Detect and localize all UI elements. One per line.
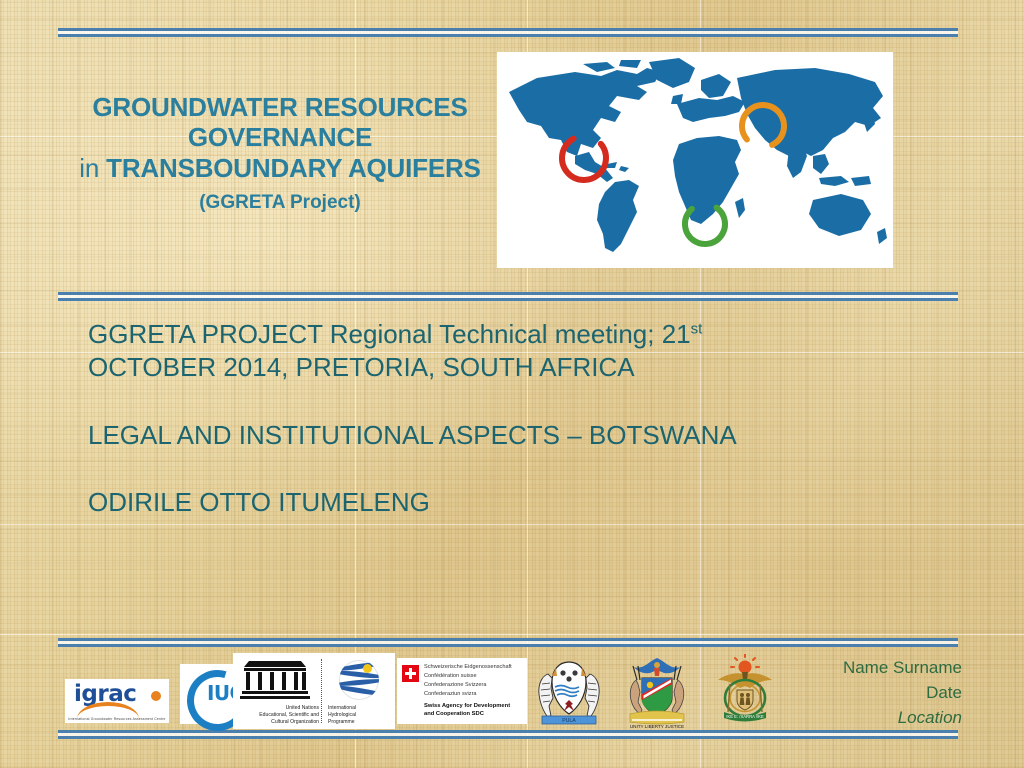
body-line-2: OCTOBER 2014, PRETORIA, SOUTH AFRICA [88, 352, 635, 382]
igrac-logo: igrac International Groundwater Resource… [65, 679, 169, 723]
coat-of-arms-namibia: UNITY LIBERTY JUSTICE [618, 654, 696, 730]
swiss-name-fr: Confédération suisse [424, 672, 525, 681]
body-paragraph-topic: LEGAL AND INSTITUTIONAL ASPECTS – BOTSWA… [88, 419, 948, 452]
title-line-3: in TRANSBOUNDARY AQUIFERS [60, 153, 500, 183]
swiss-confederation-names: Schweizerische Eidgenossenschaft Confédé… [424, 663, 525, 699]
body-paragraph-author: ODIRILE OTTO ITUMELENG [88, 486, 948, 519]
swiss-name-de: Schweizerische Eidgenossenschaft [424, 663, 525, 672]
igrac-tagline: International Groundwater Resources Asse… [68, 717, 166, 721]
presenter-date: Date [722, 681, 962, 706]
ihp-logo: International Hydrological Programme [325, 653, 393, 729]
swiss-sdc-logo: Schweizerische Eidgenossenschaft Confédé… [397, 658, 527, 724]
guide-line-horizontal [0, 524, 1024, 525]
body-paragraph-meeting: GGRETA PROJECT Regional Technical meetin… [88, 318, 948, 385]
body-line-3: LEGAL AND INSTITUTIONAL ASPECTS – BOTSWA… [88, 420, 737, 450]
ihp-globe-icon [339, 660, 379, 700]
igrac-dot-icon [151, 691, 161, 701]
presentation-slide: GROUNDWATER RESOURCES GOVERNANCE in TRAN… [0, 0, 1024, 768]
unesco-caption-line-2: Educational, Scientific and [235, 712, 319, 719]
unesco-ihp-logo: United Nations Educational, Scientific a… [233, 653, 395, 729]
body-line-1-superscript: st [691, 320, 703, 337]
body-line-4: ODIRILE OTTO ITUMELENG [88, 487, 430, 517]
partner-logo-strip: igrac International Groundwater Resource… [60, 652, 820, 730]
logo-divider [321, 659, 322, 723]
swiss-agency-name: Swiss Agency for Development and Coopera… [424, 702, 525, 718]
ihp-caption-line-1: International [328, 705, 356, 712]
unesco-caption-line-3: Cultural Organization [235, 719, 319, 726]
svg-text:PULA: PULA [562, 718, 576, 724]
world-map-image [497, 52, 893, 268]
ihp-caption: International Hydrological Programme [328, 705, 356, 726]
ihp-caption-line-3: Programme [328, 719, 356, 726]
ihp-caption-line-2: Hydrological [328, 712, 356, 719]
slide-title-block: GROUNDWATER RESOURCES GOVERNANCE in TRAN… [60, 92, 500, 214]
title-line-2: GOVERNANCE [60, 122, 500, 152]
swiss-agency-line-2: and Cooperation SDC [424, 710, 525, 718]
body-line-1: GGRETA PROJECT Regional Technical meetin… [88, 319, 691, 349]
presenter-info-block: Name Surname Date Location [722, 656, 962, 731]
divider-rule-top [58, 28, 958, 37]
swiss-cross-icon [402, 665, 419, 682]
svg-text:UNITY LIBERTY JUSTICE: UNITY LIBERTY JUSTICE [630, 724, 684, 729]
divider-rule-bottom [58, 730, 958, 739]
unesco-temple-icon [244, 661, 310, 699]
title-line-3-prefix: in [79, 153, 106, 183]
unesco-caption-line-1: United Nations [235, 705, 319, 712]
divider-rule-under-header [58, 292, 958, 301]
swiss-name-it: Confederazione Svizzera [424, 681, 525, 690]
presenter-name: Name Surname [722, 656, 962, 681]
unesco-caption: United Nations Educational, Scientific a… [235, 705, 319, 726]
title-line-1: GROUNDWATER RESOURCES [60, 92, 500, 122]
slide-body-text: GGRETA PROJECT Regional Technical meetin… [88, 318, 948, 519]
guide-line-horizontal [0, 634, 1024, 635]
swiss-agency-line-1: Swiss Agency for Development [424, 702, 525, 710]
presenter-location: Location [722, 706, 962, 731]
swiss-name-rm: Confederaziun svizra [424, 690, 525, 699]
divider-rule-above-footer [58, 638, 958, 647]
title-subtitle: (GGRETA Project) [60, 192, 500, 214]
coat-of-arms-botswana: PULA [530, 654, 608, 730]
unesco-logo: United Nations Educational, Scientific a… [233, 653, 321, 729]
title-line-3-main: TRANSBOUNDARY AQUIFERS [106, 153, 481, 183]
